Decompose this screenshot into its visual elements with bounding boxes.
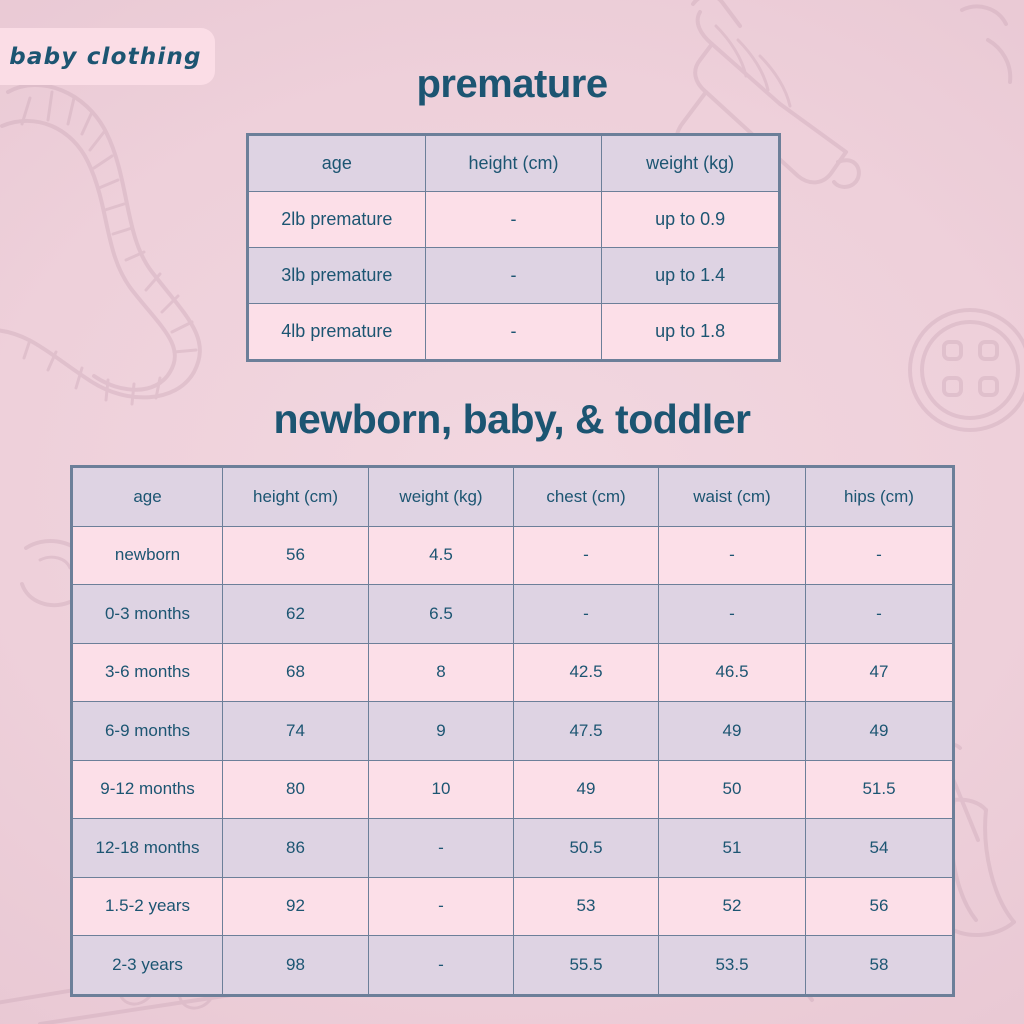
newborn-table-row: 6-9 months74947.54949 — [73, 702, 953, 761]
premature-cell: - — [425, 304, 602, 360]
newborn-table-row: 0-3 months626.5--- — [73, 585, 953, 644]
newborn-cell: 2-3 years — [73, 936, 223, 995]
newborn-cell: 10 — [369, 760, 514, 819]
premature-cell: 3lb premature — [249, 248, 426, 304]
newborn-table-row: 1.5-2 years92-535256 — [73, 877, 953, 936]
newborn-cell: 51.5 — [806, 760, 953, 819]
newborn-table-row: newborn564.5--- — [73, 526, 953, 585]
premature-header-cell: age — [249, 136, 426, 192]
newborn-table-row: 3-6 months68842.546.547 — [73, 643, 953, 702]
premature-cell: - — [425, 248, 602, 304]
newborn-cell: 58 — [806, 936, 953, 995]
newborn-cell: - — [369, 877, 514, 936]
newborn-cell: 47 — [806, 643, 953, 702]
newborn-cell: - — [514, 526, 659, 585]
newborn-cell: 53 — [514, 877, 659, 936]
newborn-cell: 98 — [223, 936, 369, 995]
newborn-baby-toddler-size-table: ageheight (cm)weight (kg)chest (cm)waist… — [72, 467, 953, 995]
page-title-newborn: newborn, baby, & toddler — [0, 396, 1024, 443]
newborn-cell: 62 — [223, 585, 369, 644]
newborn-header-cell: waist (cm) — [659, 468, 806, 527]
newborn-cell: 80 — [223, 760, 369, 819]
premature-header-row: ageheight (cm)weight (kg) — [249, 136, 779, 192]
premature-cell: up to 0.9 — [602, 192, 779, 248]
newborn-cell: 0-3 months — [73, 585, 223, 644]
newborn-header-cell: age — [73, 468, 223, 527]
newborn-cell: - — [369, 819, 514, 878]
newborn-cell: 46.5 — [659, 643, 806, 702]
newborn-cell: 52 — [659, 877, 806, 936]
newborn-header-row: ageheight (cm)weight (kg)chest (cm)waist… — [73, 468, 953, 527]
newborn-table-row: 9-12 months8010495051.5 — [73, 760, 953, 819]
newborn-table-row: 12-18 months86-50.55154 — [73, 819, 953, 878]
newborn-cell: 74 — [223, 702, 369, 761]
newborn-cell: 50 — [659, 760, 806, 819]
newborn-cell: - — [514, 585, 659, 644]
page-title-premature: premature — [0, 62, 1024, 107]
newborn-cell: 56 — [806, 877, 953, 936]
newborn-cell: 49 — [659, 702, 806, 761]
newborn-cell: 68 — [223, 643, 369, 702]
newborn-cell: 49 — [806, 702, 953, 761]
newborn-header-cell: chest (cm) — [514, 468, 659, 527]
newborn-cell: 56 — [223, 526, 369, 585]
newborn-cell: 92 — [223, 877, 369, 936]
premature-cell: up to 1.8 — [602, 304, 779, 360]
newborn-cell: 6.5 — [369, 585, 514, 644]
premature-table-row: 3lb premature-up to 1.4 — [249, 248, 779, 304]
premature-header-cell: height (cm) — [425, 136, 602, 192]
newborn-cell: - — [806, 585, 953, 644]
newborn-cell: - — [659, 526, 806, 585]
premature-table-row: 4lb premature-up to 1.8 — [249, 304, 779, 360]
newborn-cell: 86 — [223, 819, 369, 878]
premature-table-row: 2lb premature-up to 0.9 — [249, 192, 779, 248]
newborn-cell: - — [806, 526, 953, 585]
newborn-cell: 53.5 — [659, 936, 806, 995]
newborn-cell: - — [659, 585, 806, 644]
newborn-cell: 55.5 — [514, 936, 659, 995]
newborn-cell: 4.5 — [369, 526, 514, 585]
newborn-cell: 50.5 — [514, 819, 659, 878]
premature-cell: 4lb premature — [249, 304, 426, 360]
newborn-header-cell: hips (cm) — [806, 468, 953, 527]
newborn-cell: - — [369, 936, 514, 995]
premature-size-table: ageheight (cm)weight (kg)2lb premature-u… — [248, 135, 779, 360]
newborn-header-cell: height (cm) — [223, 468, 369, 527]
newborn-cell: 8 — [369, 643, 514, 702]
newborn-cell: 9 — [369, 702, 514, 761]
premature-header-cell: weight (kg) — [602, 136, 779, 192]
premature-cell: - — [425, 192, 602, 248]
newborn-cell: newborn — [73, 526, 223, 585]
newborn-cell: 3-6 months — [73, 643, 223, 702]
newborn-cell: 49 — [514, 760, 659, 819]
newborn-cell: 54 — [806, 819, 953, 878]
premature-cell: 2lb premature — [249, 192, 426, 248]
measuring-tape-doodle — [0, 85, 200, 404]
premature-cell: up to 1.4 — [602, 248, 779, 304]
newborn-cell: 47.5 — [514, 702, 659, 761]
newborn-cell: 42.5 — [514, 643, 659, 702]
newborn-cell: 1.5-2 years — [73, 877, 223, 936]
newborn-header-cell: weight (kg) — [369, 468, 514, 527]
newborn-cell: 51 — [659, 819, 806, 878]
newborn-cell: 12-18 months — [73, 819, 223, 878]
newborn-cell: 9-12 months — [73, 760, 223, 819]
newborn-cell: 6-9 months — [73, 702, 223, 761]
newborn-table-row: 2-3 years98-55.553.558 — [73, 936, 953, 995]
